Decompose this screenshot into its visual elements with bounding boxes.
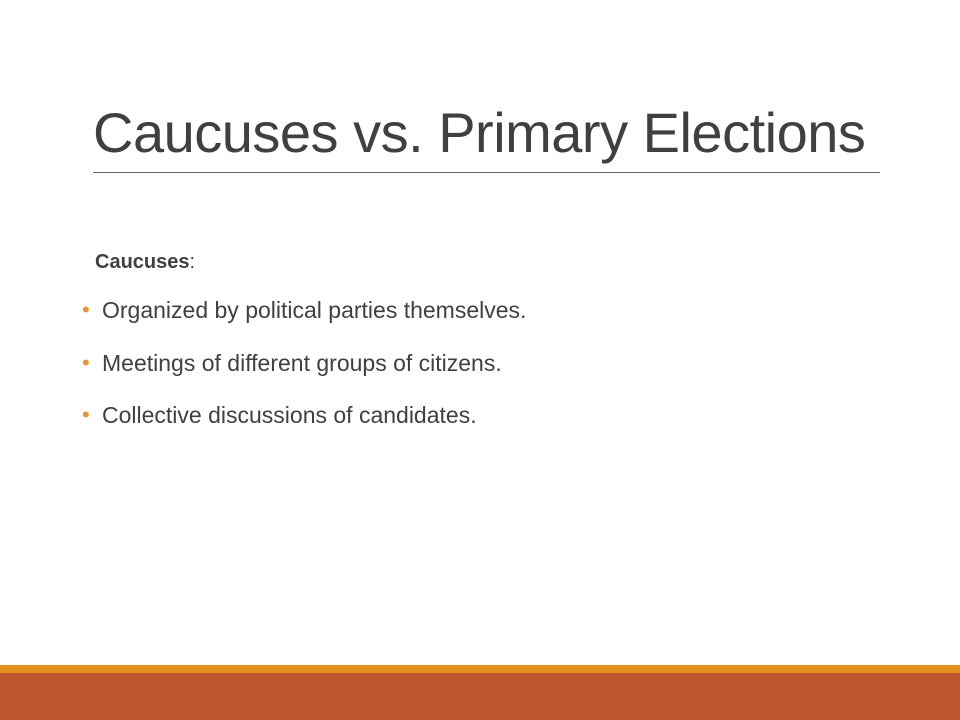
bullet-dot-icon: • bbox=[82, 299, 102, 321]
title-divider bbox=[93, 172, 880, 173]
bullet-dot-icon: • bbox=[82, 352, 102, 374]
slide-body: Caucuses: • Organized by political parti… bbox=[82, 250, 882, 455]
slide-canvas: Caucuses vs. Primary Elections Caucuses:… bbox=[0, 0, 960, 720]
list-item-label: Organized by political parties themselve… bbox=[102, 297, 882, 325]
list-item-label: Meetings of different groups of citizens… bbox=[102, 350, 882, 378]
slide-title-block: Caucuses vs. Primary Elections bbox=[93, 100, 881, 173]
lead-heading-colon: : bbox=[190, 251, 196, 273]
page-title: Caucuses vs. Primary Elections bbox=[93, 100, 881, 166]
lead-heading-term: Caucuses bbox=[95, 251, 190, 273]
footer-accent-band bbox=[0, 673, 960, 720]
footer-accent-stripe bbox=[0, 665, 960, 673]
list-item-label: Collective discussions of candidates. bbox=[102, 402, 882, 430]
bullet-dot-icon: • bbox=[82, 404, 102, 426]
lead-heading: Caucuses: bbox=[95, 250, 882, 275]
list-item: • Meetings of different groups of citize… bbox=[82, 350, 882, 378]
list-item: • Collective discussions of candidates. bbox=[82, 402, 882, 430]
list-item: • Organized by political parties themsel… bbox=[82, 297, 882, 325]
